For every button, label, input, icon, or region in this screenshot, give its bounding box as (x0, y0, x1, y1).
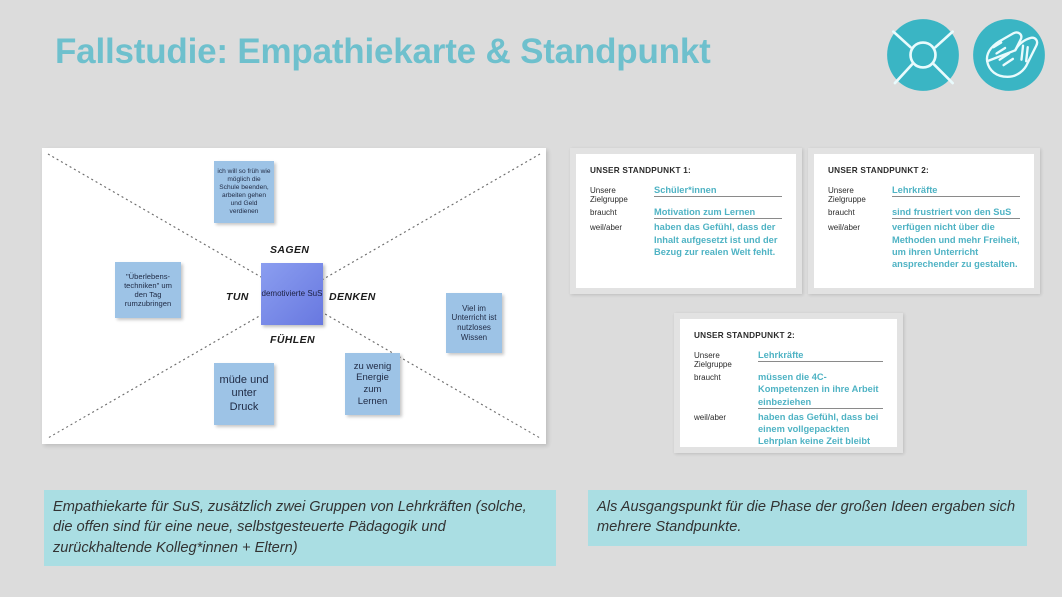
standpunkt-card-1-heading: UNSER STANDPUNKT 1: (590, 166, 782, 175)
logo-circle-lightbulb-icon (884, 16, 962, 94)
logo-group (884, 16, 1048, 94)
slide-canvas: Fallstudie: Empathiekarte & Standpunkt (0, 0, 1062, 597)
empathy-map-center-label: demotivierte SuS (262, 289, 323, 299)
page-title: Fallstudie: Empathiekarte & Standpunkt (55, 32, 711, 72)
standpunkt-card-3-row-zielgruppe: Unsere Zielgruppe Lehrkräfte (694, 349, 883, 369)
axis-label-denken: DENKEN (329, 291, 376, 303)
standpunkt-card-3-row-braucht: braucht müssen die 4C-Kompetenzen in ihr… (694, 371, 883, 409)
standpunkt-card-1-row-braucht: braucht Motivation zum Lernen (590, 206, 782, 219)
note-sagen-text: ich will so früh wie möglich die Schule … (217, 168, 271, 216)
standpunkt-card-2: UNSER STANDPUNKT 2: Unsere Zielgruppe Le… (808, 148, 1040, 294)
empathy-map-panel: ich will so früh wie möglich die Schule … (42, 148, 546, 444)
note-tun-text: "Überlebens-techniken" um den Tag rumzub… (118, 272, 178, 309)
value-weil-aber-1: haben das Gefühl, dass der Inhalt aufges… (654, 221, 782, 258)
standpunkt-card-3-row-weil-aber: weil/aber haben das Gefühl, dass bei ein… (694, 411, 883, 448)
standpunkt-card-2-heading: UNSER STANDPUNKT 2: (828, 166, 1020, 175)
standpunkt-card-2-row-zielgruppe: Unsere Zielgruppe Lehrkräfte (828, 184, 1020, 204)
standpunkt-card-1-row-zielgruppe: Unsere Zielgruppe Schüler*innen (590, 184, 782, 204)
axis-label-sagen: SAGEN (270, 244, 309, 256)
axis-label-fuehlen: FÜHLEN (270, 334, 315, 346)
note-fuehlen-2: zu wenig Energie zum Lernen (345, 353, 400, 415)
value-weil-aber-3: haben das Gefühl, dass bei einem vollgep… (758, 411, 883, 448)
label-zielgruppe: Unsere Zielgruppe (828, 184, 892, 204)
value-zielgruppe-3: Lehrkräfte (758, 349, 883, 362)
label-weil-aber: weil/aber (828, 221, 892, 232)
standpunkt-card-2-row-braucht: braucht sind frustriert von den SuS (828, 206, 1020, 219)
value-zielgruppe-2: Lehrkräfte (892, 184, 1020, 197)
label-braucht: braucht (590, 206, 654, 217)
label-weil-aber: weil/aber (590, 221, 654, 232)
caption-right: Als Ausgangspunkt für die Phase der groß… (588, 490, 1027, 546)
label-zielgruppe: Unsere Zielgruppe (590, 184, 654, 204)
standpunkt-card-3-heading: UNSER STANDPUNKT 2: (694, 331, 883, 340)
note-denken: Viel im Unterricht ist nutzloses Wissen (446, 293, 502, 353)
standpunkt-card-3: UNSER STANDPUNKT 2: Unsere Zielgruppe Le… (674, 313, 903, 453)
value-zielgruppe-1: Schüler*innen (654, 184, 782, 197)
empathy-map-center: demotivierte SuS (261, 263, 323, 325)
label-braucht: braucht (694, 371, 758, 382)
standpunkt-card-1-row-weil-aber: weil/aber haben das Gefühl, dass der Inh… (590, 221, 782, 258)
value-braucht-3: müssen die 4C-Kompetenzen in ihre Arbeit… (758, 371, 883, 409)
standpunkt-card-2-row-weil-aber: weil/aber verfügen nicht über die Method… (828, 221, 1020, 270)
note-fuehlen-1: müde und unter Druck (214, 363, 274, 425)
label-zielgruppe: Unsere Zielgruppe (694, 349, 758, 369)
axis-label-tun: TUN (226, 291, 249, 303)
logo-circle-hands-icon (970, 16, 1048, 94)
value-braucht-1: Motivation zum Lernen (654, 206, 782, 219)
standpunkt-card-1: UNSER STANDPUNKT 1: Unsere Zielgruppe Sc… (570, 148, 802, 294)
value-braucht-2: sind frustriert von den SuS (892, 206, 1020, 219)
note-fuehlen-2-text: zu wenig Energie zum Lernen (348, 361, 397, 407)
note-fuehlen-1-text: müde und unter Druck (217, 374, 271, 414)
note-sagen: ich will so früh wie möglich die Schule … (214, 161, 274, 223)
label-weil-aber: weil/aber (694, 411, 758, 422)
label-braucht: braucht (828, 206, 892, 217)
value-weil-aber-2: verfügen nicht über die Methoden und meh… (892, 221, 1020, 270)
note-tun: "Überlebens-techniken" um den Tag rumzub… (115, 262, 181, 318)
caption-left: Empathiekarte für SuS, zusätzlich zwei G… (44, 490, 556, 566)
note-denken-text: Viel im Unterricht ist nutzloses Wissen (449, 304, 499, 343)
